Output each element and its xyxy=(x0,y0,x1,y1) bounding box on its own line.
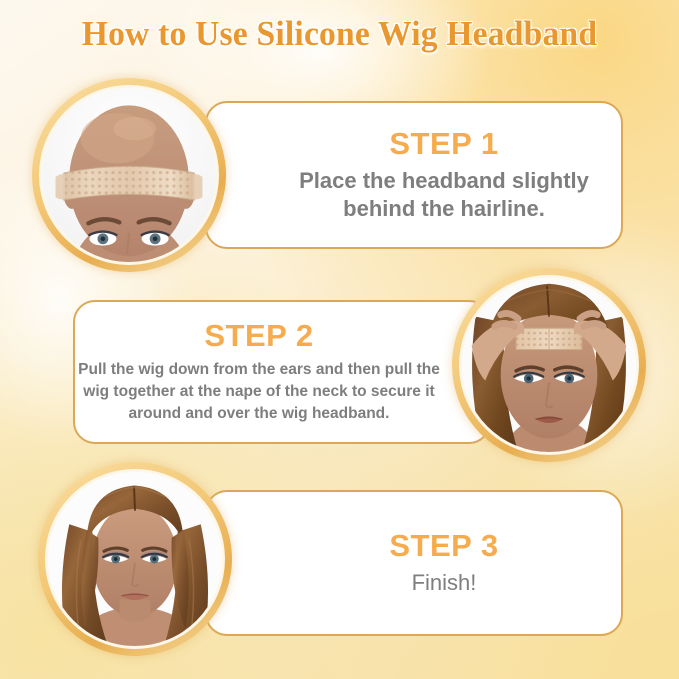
step-3-photo-gap xyxy=(45,469,225,649)
step-2-photo xyxy=(462,278,636,452)
step-2-photo-ring xyxy=(452,268,646,462)
step-2-panel: STEP 2 Pull the wig down from the ears a… xyxy=(73,300,491,444)
step-1-photo-ring xyxy=(32,78,226,272)
step-3-photo-ring xyxy=(38,462,232,656)
step-3-photo xyxy=(48,472,222,646)
step-1-description: Place the headband slightly behind the h… xyxy=(267,167,621,223)
step-2-photo-gap xyxy=(459,275,639,455)
step-2-panel-content: STEP 2 Pull the wig down from the ears a… xyxy=(75,302,489,442)
finished-wig-mannequin-icon xyxy=(48,472,222,646)
step-1-panel-content: STEP 1 Place the headband slightly behin… xyxy=(207,103,621,247)
step-1-photo xyxy=(42,88,216,262)
step-1-panel: STEP 1 Place the headband slightly behin… xyxy=(205,101,623,249)
step-2-label: STEP 2 xyxy=(204,319,313,353)
step-1-photo-gap xyxy=(39,85,219,265)
step-2-description: Pull the wig down from the ears and then… xyxy=(75,359,443,425)
step-3-panel: STEP 3 Finish! xyxy=(205,490,623,636)
page-title: How to Use Silicone Wig Headband xyxy=(14,14,666,54)
step-1-label: STEP 1 xyxy=(389,127,498,161)
step-3-label: STEP 3 xyxy=(389,529,498,563)
step-3-panel-content: STEP 3 Finish! xyxy=(207,492,621,634)
infographic-root: How to Use Silicone Wig Headband STEP 1 … xyxy=(0,0,679,679)
hands-pulling-wig-icon xyxy=(462,278,636,452)
mannequin-head-headband-icon xyxy=(42,88,216,262)
step-3-description: Finish! xyxy=(412,569,477,598)
